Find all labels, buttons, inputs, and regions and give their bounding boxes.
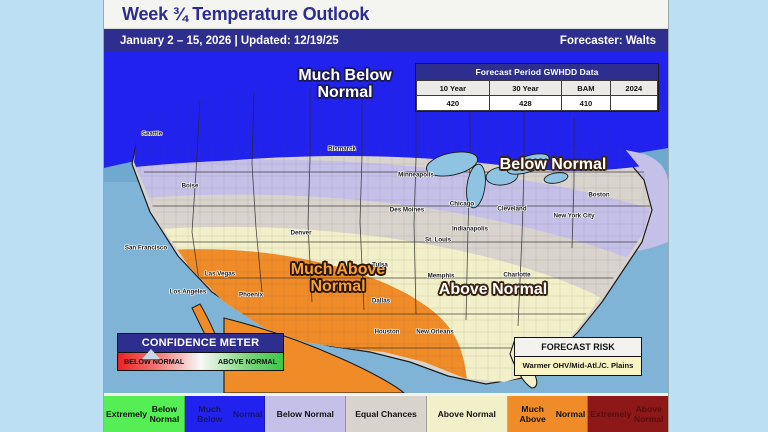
date-header-bar: January 2 – 15, 2026 | Updated: 12/19/25… xyxy=(104,28,668,53)
temperature-category-legend: ExtremelyBelow NormalMuch BelowNormalBel… xyxy=(104,396,668,432)
page-title: Week ¾ Temperature Outlook xyxy=(122,4,369,25)
gwhdd-col-10-year: 10 Year xyxy=(417,81,490,96)
outlook-card: Week ¾ Temperature Outlook January 2 – 1… xyxy=(104,0,668,432)
gwhdd-header-row: 10 Year 30 Year BAM 2024 xyxy=(417,81,658,96)
legend-item-label: Above Normal xyxy=(438,409,496,419)
legend-item: Much AboveNormal xyxy=(508,396,589,432)
legend-item: Below Normal xyxy=(265,396,346,432)
title-bar: Week ¾ Temperature Outlook xyxy=(104,0,668,28)
legend-item: ExtremelyBelow Normal xyxy=(104,396,185,432)
forecast-risk-text: Warmer OHV/Mid-Atl./C. Plains xyxy=(515,356,641,375)
legend-item-label-2: Below Normal xyxy=(147,404,182,425)
legend-item-label: Much Above xyxy=(510,404,556,425)
legend-item: ExtremelyAbove Normal xyxy=(588,396,668,432)
legend-item: Equal Chances xyxy=(346,396,427,432)
forecast-risk-title: FORECAST RISK xyxy=(515,338,641,356)
gwhdd-val-2024: 472 xyxy=(610,96,657,111)
gwhdd-col-bam: BAM xyxy=(562,81,610,96)
confidence-above-normal-label: ABOVE NORMAL xyxy=(218,357,277,366)
gwhdd-title: Forecast Period GWHDD Data xyxy=(416,64,658,80)
gwhdd-value-row: 420 428 410 472 xyxy=(417,96,658,111)
forecast-risk-box: FORECAST RISK Warmer OHV/Mid-Atl./C. Pla… xyxy=(514,337,642,376)
legend-item-label-2: Above Normal xyxy=(631,404,666,425)
legend-item: Much BelowNormal xyxy=(185,396,266,432)
legend-item-label: Equal Chances xyxy=(355,409,417,419)
legend-item-label: Much Below xyxy=(187,404,233,425)
screenshot-root: Week ¾ Temperature Outlook January 2 – 1… xyxy=(0,0,768,432)
temperature-outlook-map: Much Below Normal Below Normal Much Abov… xyxy=(104,52,668,393)
gwhdd-val-bam: 410 xyxy=(562,96,610,111)
legend-item: Above Normal xyxy=(427,396,508,432)
confidence-meter: CONFIDENCE METER BELOW NORMAL ABOVE NORM… xyxy=(117,333,284,371)
gwhdd-val-10-year: 420 xyxy=(417,96,490,111)
confidence-pointer-icon xyxy=(142,349,160,359)
forecaster-label: Forecaster: Walts xyxy=(560,35,656,47)
legend-item-label: Below Normal xyxy=(277,409,334,419)
gwhdd-col-30-year: 30 Year xyxy=(489,81,562,96)
legend-item-label: Extremely xyxy=(590,409,631,419)
legend-item-label-2: Normal xyxy=(233,409,263,419)
date-range-label: January 2 – 15, 2026 | Updated: 12/19/25 xyxy=(120,35,339,47)
legend-item-label: Extremely xyxy=(106,409,147,419)
gwhdd-val-30-year: 428 xyxy=(489,96,562,111)
legend-item-label-2: Normal xyxy=(556,409,586,419)
gwhdd-table: Forecast Period GWHDD Data 10 Year 30 Ye… xyxy=(415,63,659,112)
gwhdd-col-2024: 2024 xyxy=(610,81,657,96)
